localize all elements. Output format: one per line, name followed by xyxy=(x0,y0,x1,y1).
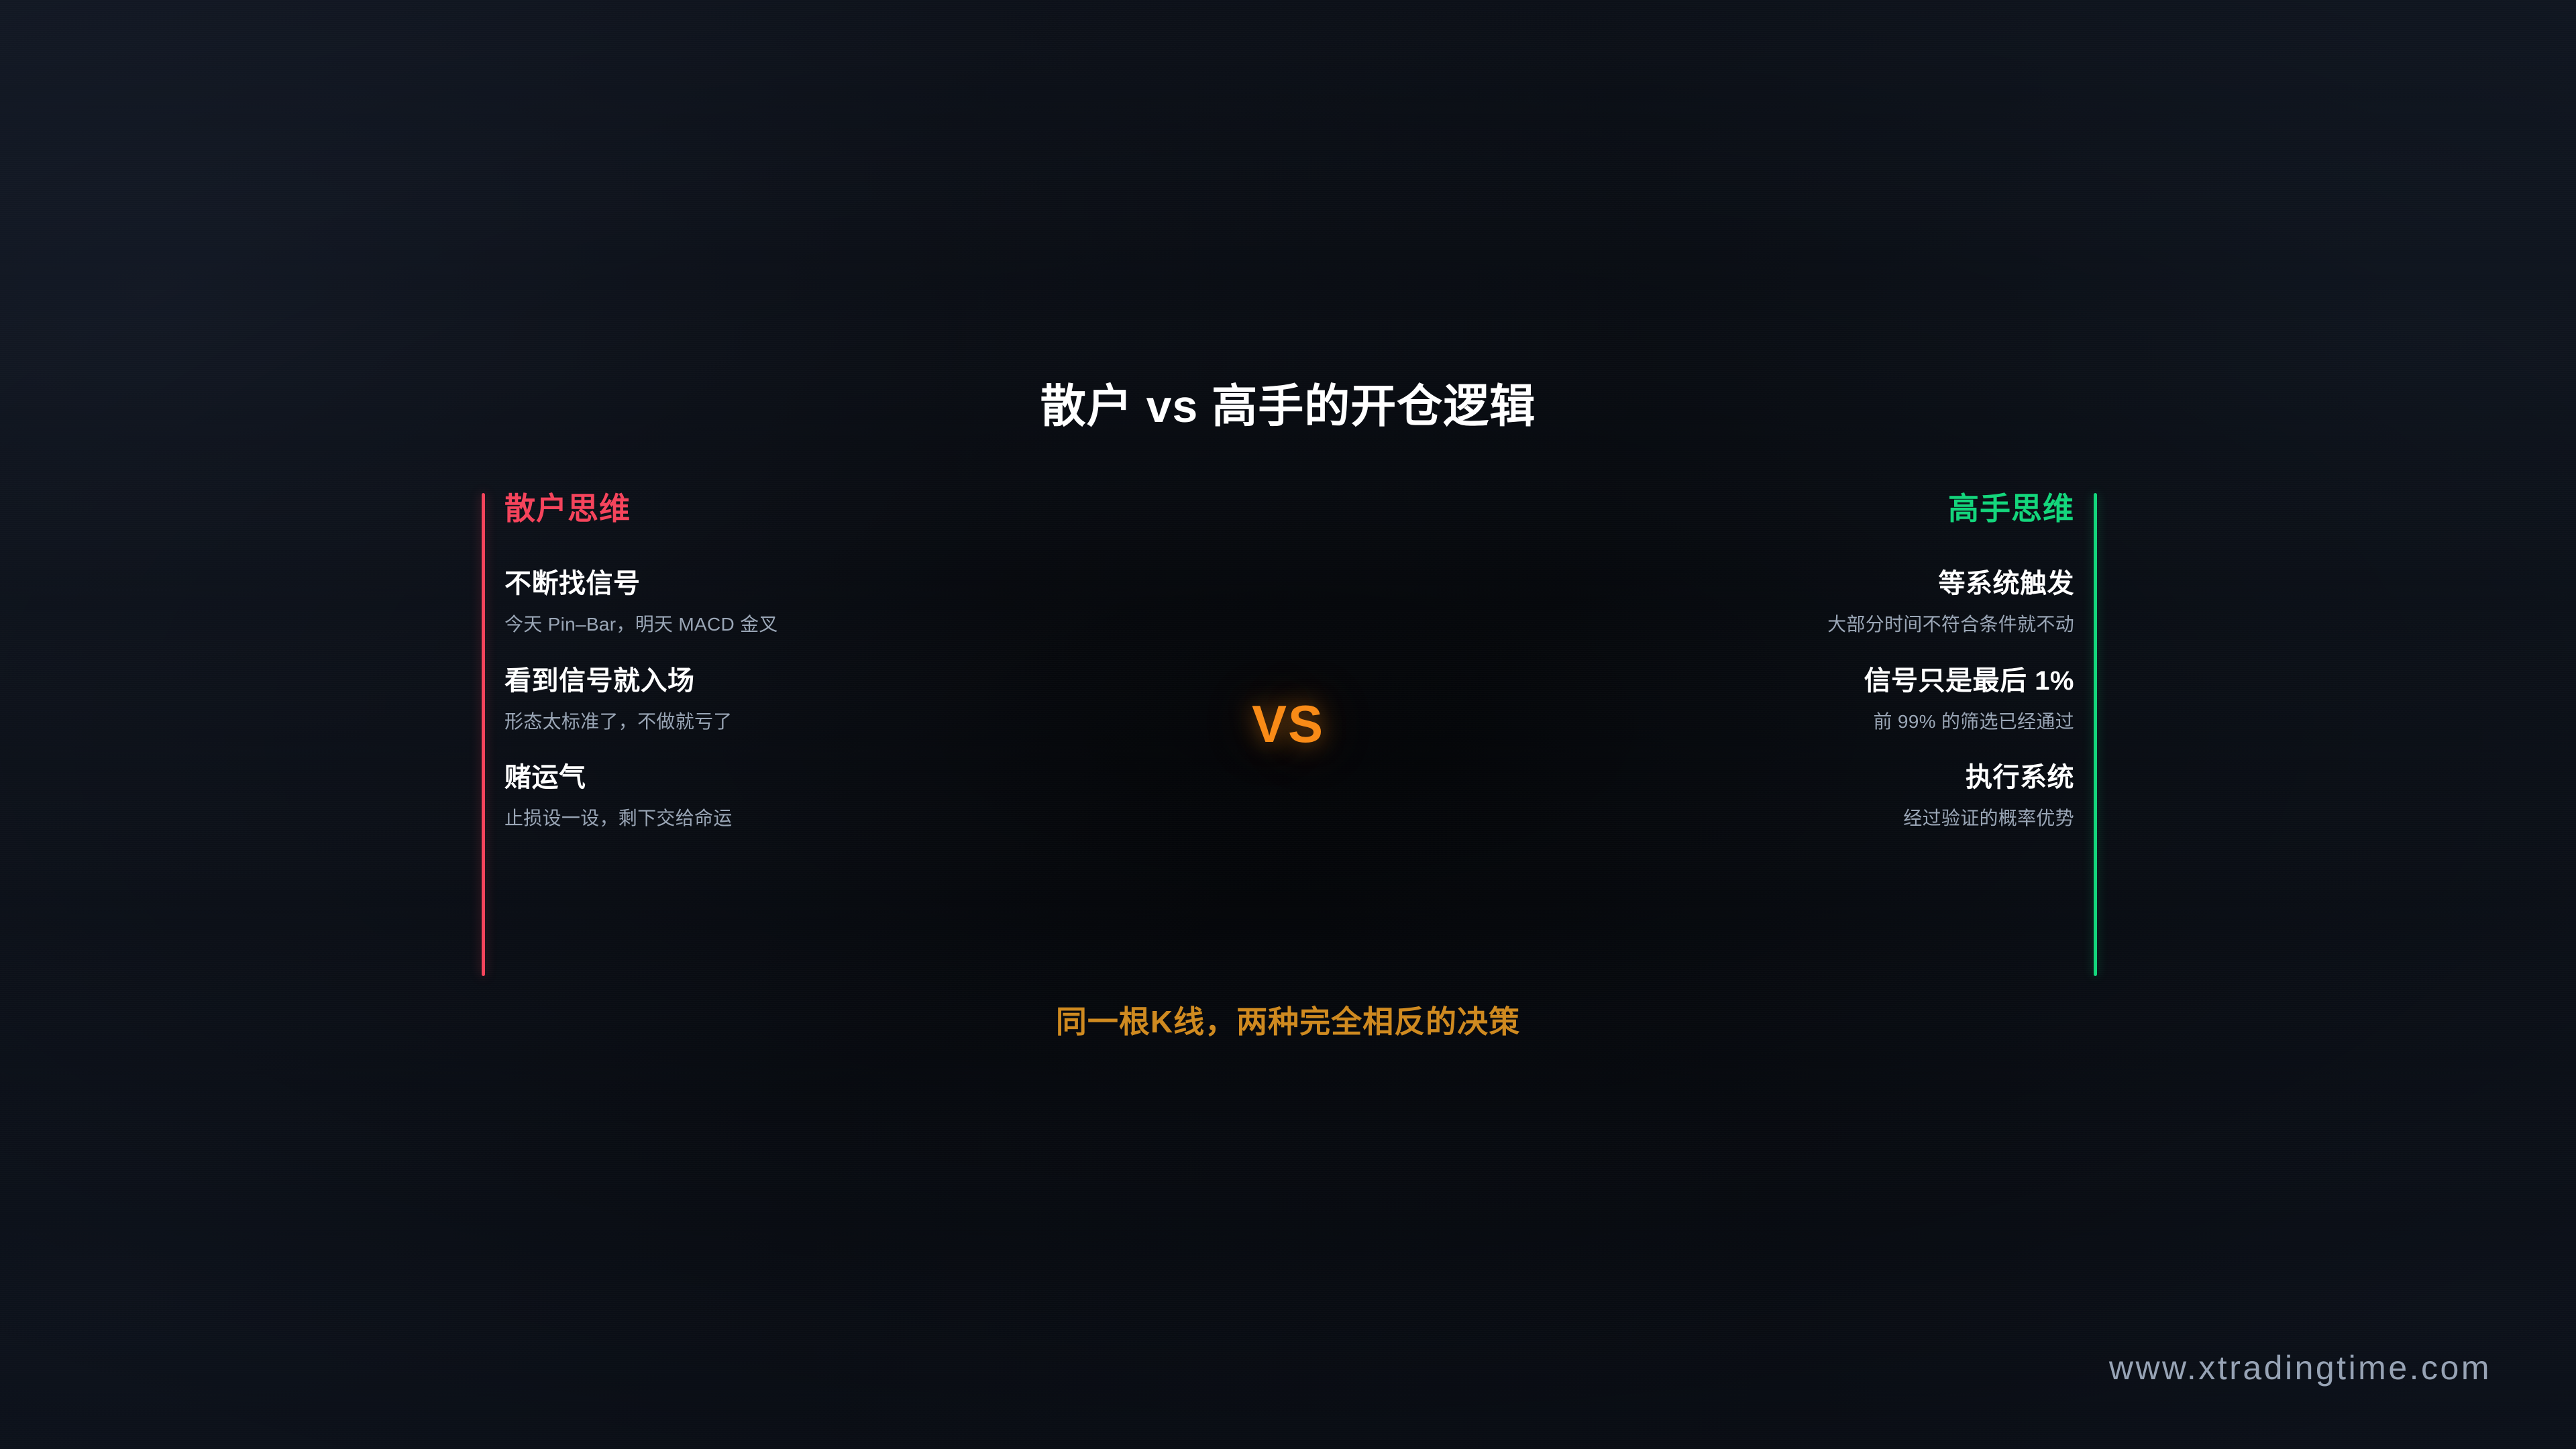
pro-entry-3: 执行系统 经过验证的概率优势 xyxy=(1470,762,2074,830)
retail-column-heading: 散户思维 xyxy=(504,493,1108,524)
pro-entry-1-title: 等系统触发 xyxy=(1470,568,2074,599)
retail-entry-3-title: 赌运气 xyxy=(504,762,1108,793)
pro-entry-3-title: 执行系统 xyxy=(1470,762,2074,793)
pro-entry-2-title: 信号只是最后 1% xyxy=(1470,665,2074,696)
retail-entry-3-subtitle: 止损设一设，剩下交给命运 xyxy=(504,807,1108,830)
site-watermark: www.xtradingtime.com xyxy=(2109,1351,2491,1385)
pro-entry-1-subtitle: 大部分时间不符合条件就不动 xyxy=(1470,613,2074,636)
retail-entry-1-subtitle: 今天 Pin–Bar，明天 MACD 金叉 xyxy=(504,613,1108,636)
retail-entry-1: 不断找信号 今天 Pin–Bar，明天 MACD 金叉 xyxy=(504,568,1108,636)
pro-column: 高手思维 等系统触发 大部分时间不符合条件就不动 信号只是最后 1% 前 99%… xyxy=(1470,493,2074,830)
pro-entry-1: 等系统触发 大部分时间不符合条件就不动 xyxy=(1470,568,2074,636)
retail-entry-3: 赌运气 止损设一设，剩下交给命运 xyxy=(504,762,1108,830)
pro-column-heading: 高手思维 xyxy=(1470,493,2074,524)
page-title: 散户 vs 高手的开仓逻辑 xyxy=(0,380,2576,435)
retail-entry-1-title: 不断找信号 xyxy=(504,568,1108,599)
pro-entry-3-subtitle: 经过验证的概率优势 xyxy=(1470,807,2074,830)
retail-entry-2-title: 看到信号就入场 xyxy=(504,665,1108,696)
retail-column: 散户思维 不断找信号 今天 Pin–Bar，明天 MACD 金叉 看到信号就入场… xyxy=(504,493,1108,830)
slide-canvas: 散户 vs 高手的开仓逻辑 散户思维 不断找信号 今天 Pin–Bar，明天 M… xyxy=(0,0,2576,1449)
tagline: 同一根K线，两种完全相反的决策 xyxy=(0,1004,2576,1040)
slide-content: 散户 vs 高手的开仓逻辑 散户思维 不断找信号 今天 Pin–Bar，明天 M… xyxy=(0,0,2576,1449)
vs-badge: VS xyxy=(0,698,2576,750)
